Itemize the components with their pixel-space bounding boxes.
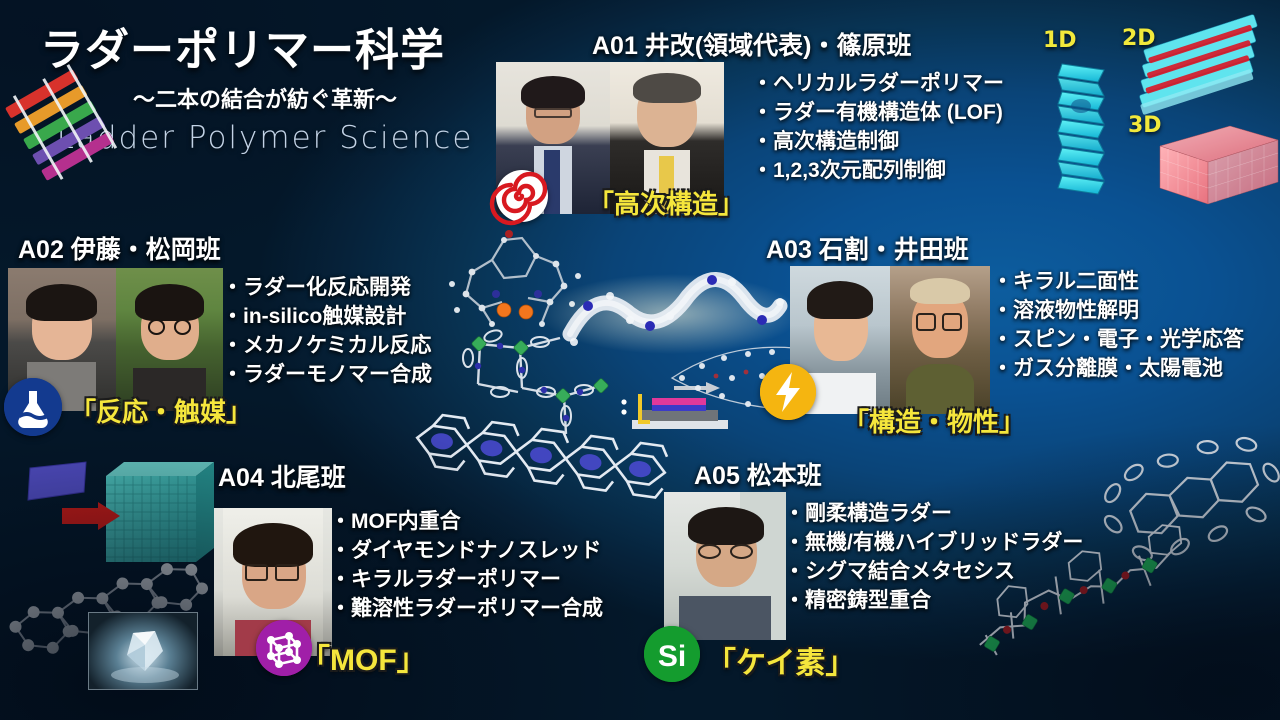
silicon-symbol: Si [658, 640, 686, 673]
group-title-a02: A02 伊藤・松岡班 [18, 230, 221, 266]
bullet-item: シグマ結合メタセシス [784, 558, 1083, 587]
photo-a05 [664, 492, 786, 640]
bullet-item: 溶液物性解明 [992, 297, 1244, 326]
helical-polymer-illustration-1d [1058, 64, 1104, 194]
bullet-item: in-silico触媒設計 [222, 303, 432, 332]
lightning-bolt-icon [760, 364, 816, 420]
mof-cube-with-arrow [28, 462, 214, 562]
bullet-item: 剛柔構造ラダー [784, 500, 1083, 529]
bullet-item: 高次構造制御 [752, 128, 1004, 157]
group-title-a05: A05 松本班 [694, 456, 822, 492]
bullet-item: 精密鋳型重合 [784, 587, 1083, 616]
page-title: ラダーポリマー科学 [40, 14, 490, 78]
bullet-item: メカノケミカル反応 [222, 332, 432, 361]
bullet-item: ガス分離膜・太陽電池 [992, 355, 1244, 384]
bullets-a03: キラル二面性 溶液物性解明 スピン・電子・光学応答 ガス分離膜・太陽電池 [992, 268, 1244, 384]
photo-a03 [790, 266, 990, 414]
bullet-item: ラダーモノマー合成 [222, 361, 432, 390]
bullets-a05: 剛柔構造ラダー 無機/有機ハイブリッドラダー シグマ結合メタセシス 精密鋳型重合 [784, 500, 1083, 616]
bullet-item: キラル二面性 [992, 268, 1244, 297]
helical-ribbon-molecule-model [541, 274, 801, 354]
group-title-a03: A03 石割・井田班 [766, 230, 969, 266]
keyword-a05: 「ケイ素」 [706, 638, 855, 682]
dimension-label-3d: 3D [1128, 113, 1162, 138]
ladder-polymer-logo [10, 72, 120, 172]
spiral-icon [496, 170, 548, 222]
thin-film-device-illustration [621, 382, 728, 429]
ladder-polymer-chain-diagram [414, 412, 669, 498]
framework-block-illustration-3d [1160, 126, 1278, 204]
keyword-a02: 「反応・触媒」 [70, 392, 252, 429]
bullet-item: キラルラダーポリマー [330, 566, 603, 595]
bullet-item: MOF内重合 [330, 508, 603, 537]
bullet-item: ヘリカルラダーポリマー [752, 70, 1004, 99]
flask-icon [4, 378, 62, 436]
bullet-item: 無機/有機ハイブリッドラダー [784, 529, 1083, 558]
keyword-a01: 「高次構造」 [588, 184, 744, 221]
bullet-item: ラダー化反応開発 [222, 274, 432, 303]
bullets-a02: ラダー化反応開発 in-silico触媒設計 メカノケミカル反応 ラダーモノマー… [222, 274, 432, 390]
silicon-element-icon: Si [644, 626, 700, 682]
bullet-item: 難溶性ラダーポリマー合成 [330, 595, 603, 624]
keyword-a04: 「MOF」 [300, 635, 427, 679]
bullets-a01: ヘリカルラダーポリマー ラダー有機構造体 (LOF) 高次構造制御 1,2,3次… [752, 70, 1004, 186]
silicon-ladder-molecule-model [1088, 421, 1280, 574]
bullet-item: ダイヤモンドナノスレッド [330, 537, 603, 566]
group-title-a01: A01 井改(領域代表)・篠原班 [592, 26, 911, 62]
bullet-item: 1,2,3次元配列制御 [752, 157, 1004, 186]
diamond-photo [88, 612, 198, 690]
bullets-a04: MOF内重合 ダイヤモンドナノスレッド キラルラダーポリマー 難溶性ラダーポリマ… [330, 508, 603, 624]
poster-canvas: ラダーポリマー科学 〜二本の結合が紡ぐ革新〜 Ladder Polymer Sc… [0, 0, 1280, 720]
bullet-item: スピン・電子・光学応答 [992, 326, 1244, 355]
keyword-a03: 「構造・物性」 [843, 402, 1025, 439]
group-title-a04: A04 北尾班 [218, 458, 346, 494]
dimension-label-1d: 1D [1043, 28, 1077, 53]
dimension-label-2d: 2D [1122, 26, 1156, 51]
bullet-item: ラダー有機構造体 (LOF) [752, 99, 1004, 128]
